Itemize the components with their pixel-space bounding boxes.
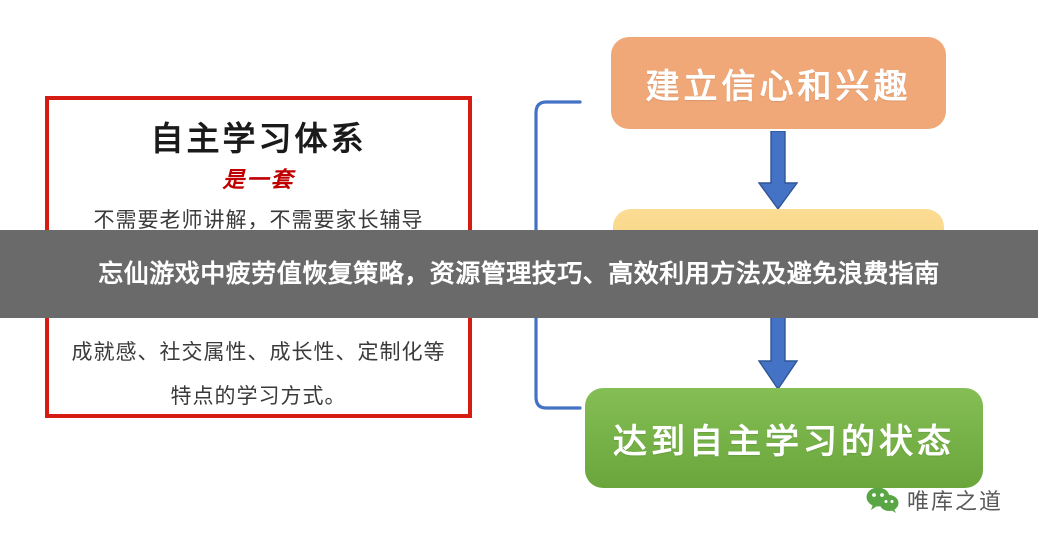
flow-box-confidence: 建立信心和兴趣 <box>611 37 946 129</box>
down-arrow-icon <box>756 131 800 211</box>
definition-title: 自主学习体系 <box>49 112 468 160</box>
definition-body-line: 特点的学习方式。 <box>49 380 468 410</box>
wechat-icon <box>866 486 900 514</box>
overlay-banner: 忘仙游戏中疲劳值恢复策略，资源管理技巧、高效利用方法及避免浪费指南 <box>0 230 1038 318</box>
definition-subtitle: 是一套 <box>49 162 468 194</box>
watermark: 唯库之道 <box>866 484 1003 516</box>
definition-body-line: 成就感、社交属性、成长性、定制化等 <box>49 336 468 366</box>
flow-box-goal-label: 达到自主学习的状态 <box>613 414 955 463</box>
overlay-title: 忘仙游戏中疲劳值恢复策略，资源管理技巧、高效利用方法及避免浪费指南 <box>49 257 989 291</box>
flow-box-confidence-label: 建立信心和兴趣 <box>646 59 912 108</box>
diagram-canvas: 自主学习体系 是一套 不需要老师讲解，不需要家长辅导 且满足 上手简单、难度适中… <box>0 0 1038 547</box>
flow-box-goal: 达到自主学习的状态 <box>585 388 983 488</box>
watermark-label: 唯库之道 <box>907 484 1003 516</box>
